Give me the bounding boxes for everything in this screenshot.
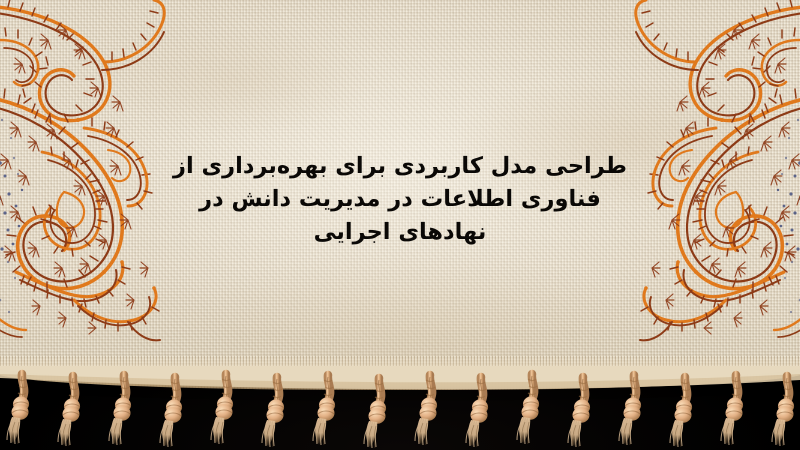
title-line-3: نهادهای اجرایی [0,216,800,249]
title-card: طراحی مدل کاربردی برای بهره‌برداری از فن… [0,0,800,450]
page-title: طراحی مدل کاربردی برای بهره‌برداری از فن… [0,150,800,249]
title-line-2: فناوری اطلاعات در مدیریت دانش در [0,183,800,216]
fringe-tassels [0,366,800,450]
title-line-1: طراحی مدل کاربردی برای بهره‌برداری از [0,150,800,183]
